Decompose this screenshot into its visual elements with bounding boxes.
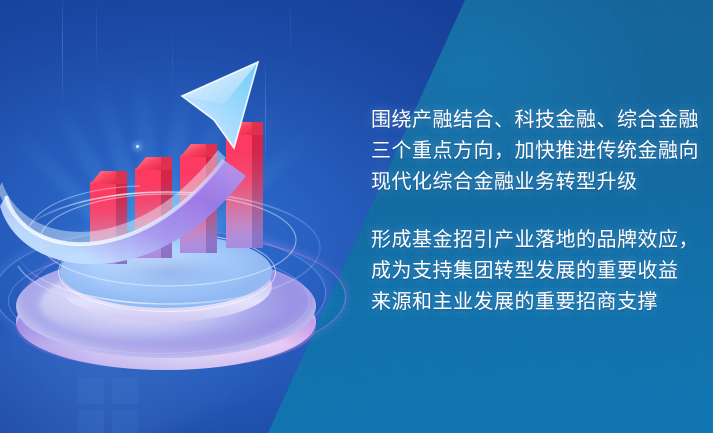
background-square-accent xyxy=(78,410,104,433)
background-square-accent xyxy=(112,410,138,433)
paragraph-1: 围绕产融结合、科技金融、综合金融 三个重点方向，加快推进传统金融向 现代化综合金… xyxy=(371,105,691,198)
up-arrow-icon xyxy=(0,0,345,270)
paragraph-2-line-2: 成为支持集团转型发展的重要收益 xyxy=(371,260,679,282)
paragraph-1-line-1: 围绕产融结合、科技金融、综合金融 xyxy=(371,109,699,131)
growth-chart-podium-illustration xyxy=(0,78,345,348)
background-square-accent xyxy=(78,378,104,404)
paragraph-2-line-1: 形成基金招引产业落地的品牌效应， xyxy=(371,229,699,251)
background-square-accent xyxy=(112,378,138,404)
paragraph-2: 形成基金招引产业落地的品牌效应， 成为支持集团转型发展的重要收益 来源和主业发展… xyxy=(371,225,691,318)
paragraph-1-line-2: 三个重点方向，加快推进传统金融向 xyxy=(371,140,699,162)
paragraph-2-line-3: 来源和主业发展的重要招商支撑 xyxy=(371,291,658,313)
banner-root: 围绕产融结合、科技金融、综合金融 三个重点方向，加快推进传统金融向 现代化综合金… xyxy=(0,0,713,433)
paragraph-1-line-3: 现代化综合金融业务转型升级 xyxy=(371,171,638,193)
copy-block: 围绕产融结合、科技金融、综合金融 三个重点方向，加快推进传统金融向 现代化综合金… xyxy=(371,105,691,318)
